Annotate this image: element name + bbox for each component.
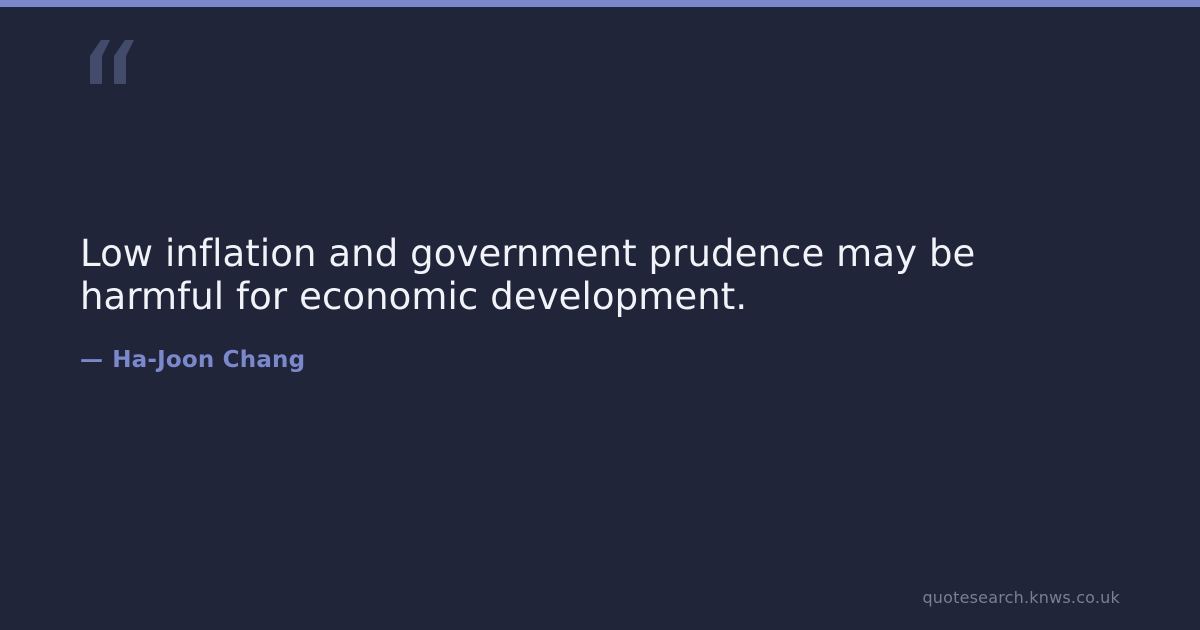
- quote-card: Low inflation and government prudence ma…: [0, 0, 1200, 630]
- top-accent-bar: [0, 0, 1200, 7]
- attribution-author: Ha-Joon Chang: [112, 347, 305, 373]
- quote-attribution: —Ha-Joon Chang: [80, 318, 1040, 374]
- quote-text: Low inflation and government prudence ma…: [80, 232, 990, 318]
- site-watermark: quotesearch.knws.co.uk: [922, 588, 1120, 608]
- attribution-dash: —: [80, 346, 112, 374]
- open-quote-icon: [80, 40, 136, 84]
- quote-body: Low inflation and government prudence ma…: [80, 232, 1040, 374]
